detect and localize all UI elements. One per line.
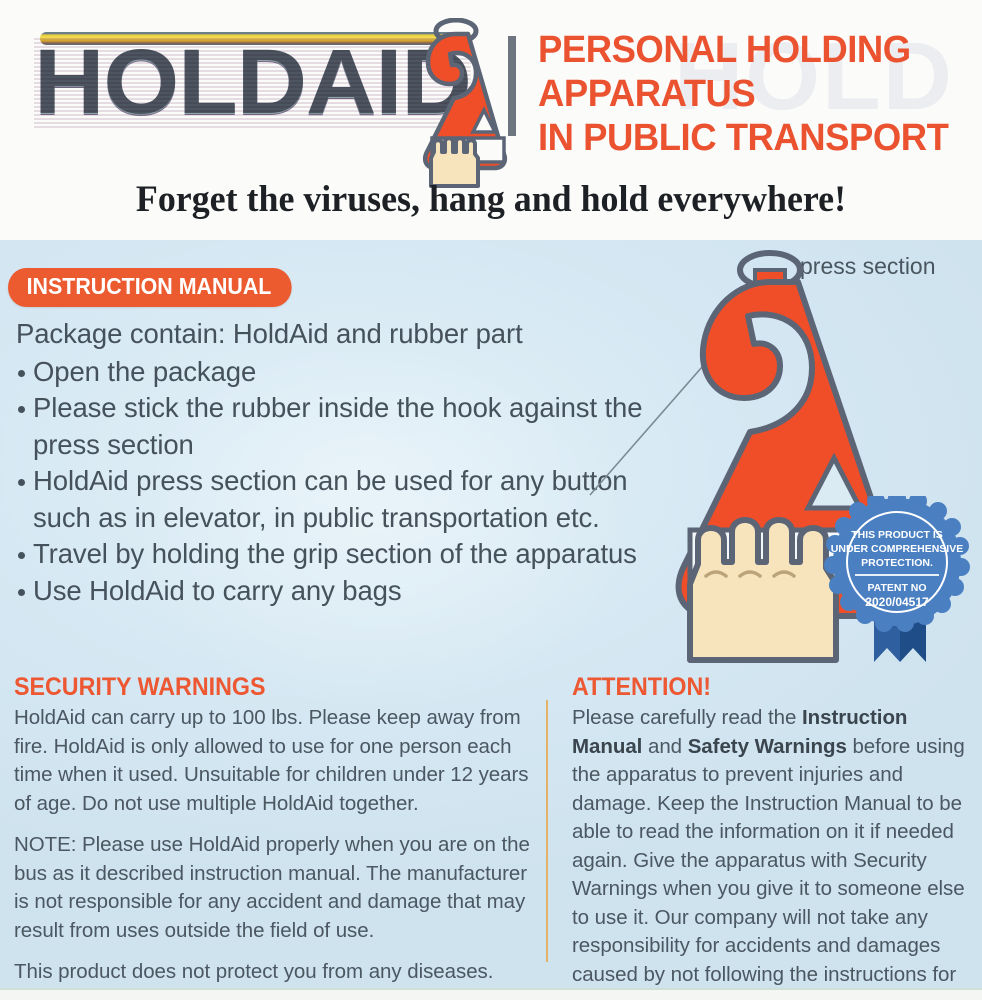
header-vertical-divider — [508, 36, 516, 136]
header-slogan: Forget the viruses, hang and hold everyw… — [15, 178, 968, 222]
security-warnings-note: NOTE: Please use HoldAid properly when y… — [14, 831, 532, 945]
column-divider — [546, 700, 548, 962]
security-warnings-disclaimer: This product does not protect you from a… — [14, 958, 532, 987]
attention-text-1: Please carefully read the — [572, 706, 802, 729]
security-warnings-heading: SECURITY WARNINGS — [14, 674, 265, 701]
attention-paragraph: Please carefully read the Instruction Ma… — [572, 704, 974, 1000]
attention-body: Please carefully read the Instruction Ma… — [572, 704, 974, 1000]
header-tagline-line1: PERSONAL HOLDING APPARATUS — [538, 28, 951, 116]
instruction-lead: Package contain: HoldAid and rubber part — [16, 316, 646, 353]
attention-text-3: before using the apparatus to prevent in… — [572, 735, 965, 1000]
header-band: HOLD HOLDAID — [0, 0, 982, 240]
page-bottom-edge — [0, 988, 982, 1000]
list-item: HoldAid press section can be used for an… — [16, 463, 646, 536]
badge-patent-number: 2020/04517 — [865, 595, 929, 609]
header-tagline: PERSONAL HOLDING APPARATUS IN PUBLIC TRA… — [538, 28, 951, 160]
header-tagline-line2: IN PUBLIC TRANSPORT — [538, 116, 951, 160]
instruction-bullets: Open the package Please stick the rubber… — [16, 354, 646, 610]
badge-line1: THIS PRODUCT IS — [851, 529, 943, 541]
badge-line2: UNDER COMPREHENSIVE — [831, 543, 963, 555]
package-insert-page: HOLD HOLDAID — [0, 0, 982, 1000]
brand-logo: HOLDAID — [26, 18, 496, 178]
attention-bold-safety-warnings: Safety Warnings — [688, 735, 847, 758]
badge-patent-label: PATENT NO — [867, 582, 926, 594]
attention-text-2: and — [642, 735, 687, 758]
list-item: Please stick the rubber inside the hook … — [16, 390, 646, 463]
badge-line3: PROTECTION. — [861, 557, 933, 569]
list-item: Travel by holding the grip section of th… — [16, 536, 646, 573]
list-item: Use HoldAid to carry any bags — [16, 573, 646, 610]
security-warnings-paragraph: HoldAid can carry up to 100 lbs. Please … — [14, 704, 532, 818]
instruction-list-block: Package contain: HoldAid and rubber part… — [16, 316, 646, 609]
patent-seal-badge: THIS PRODUCT IS UNDER COMPREHENSIVE PROT… — [822, 496, 972, 664]
instruction-manual-badge: INSTRUCTION MANUAL — [8, 268, 292, 307]
attention-heading: ATTENTION! — [572, 674, 711, 701]
list-item: Open the package — [16, 354, 646, 391]
security-warnings-body: HoldAid can carry up to 100 lbs. Please … — [14, 704, 532, 987]
